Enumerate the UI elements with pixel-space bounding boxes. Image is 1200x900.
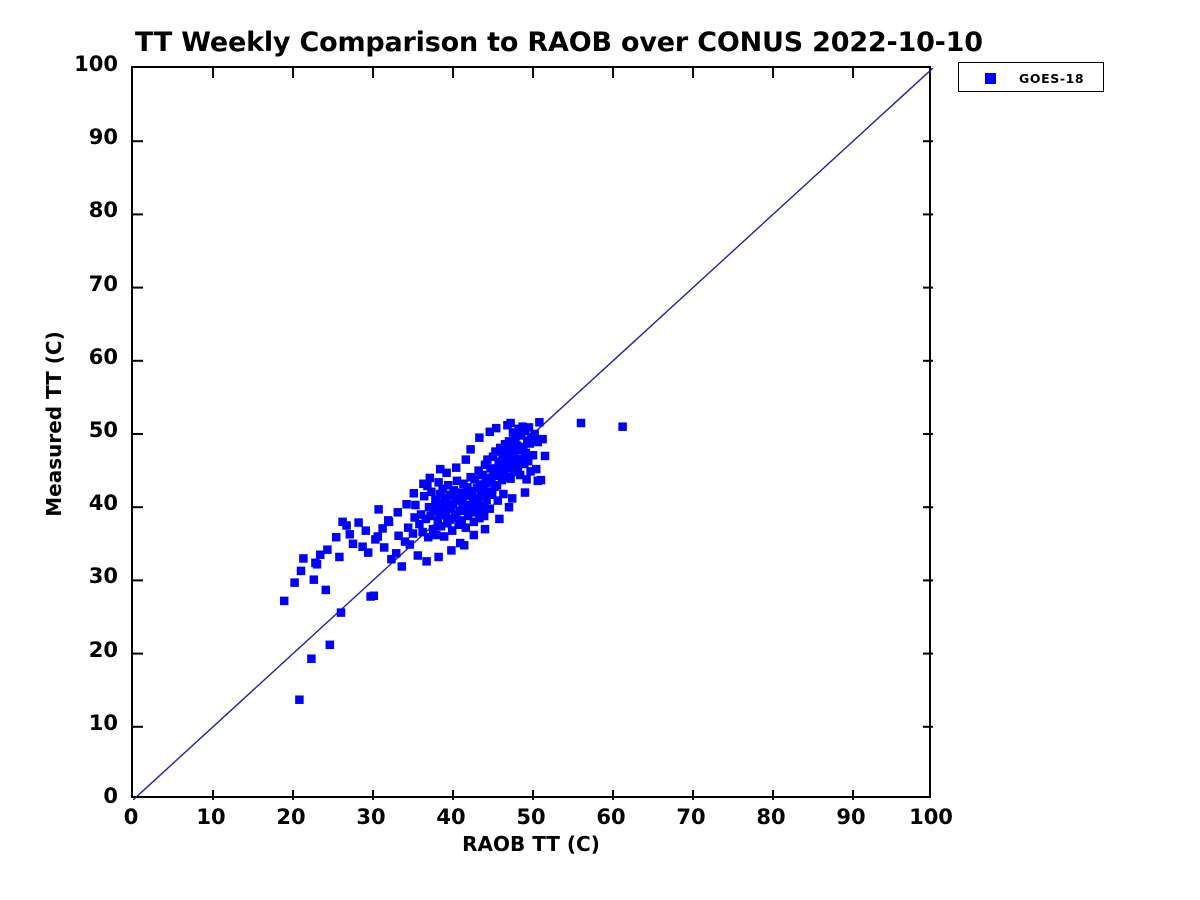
- data-point: [434, 553, 443, 562]
- data-point: [378, 524, 387, 533]
- data-point: [529, 451, 538, 460]
- data-point: [362, 526, 371, 535]
- x-tick-label: 50: [496, 805, 566, 829]
- data-point: [492, 424, 501, 433]
- data-point: [409, 529, 418, 538]
- data-point: [440, 532, 449, 541]
- data-point-group: [280, 418, 627, 704]
- plot-area: [131, 66, 931, 798]
- x-tick-label: 20: [256, 805, 326, 829]
- data-point: [310, 575, 319, 584]
- data-point: [326, 641, 335, 650]
- data-point: [535, 418, 544, 427]
- x-tick-label: 60: [576, 805, 646, 829]
- x-tick-label: 0: [96, 805, 166, 829]
- data-point: [410, 489, 419, 498]
- data-point: [506, 419, 514, 428]
- data-point: [462, 523, 471, 532]
- data-point: [534, 477, 543, 486]
- y-tick-label: 100: [48, 52, 118, 76]
- data-point: [427, 488, 436, 497]
- data-point: [398, 562, 407, 571]
- data-point: [432, 531, 441, 540]
- data-point: [311, 559, 320, 568]
- data-point: [307, 654, 316, 663]
- data-point: [577, 419, 586, 428]
- data-point: [447, 546, 456, 555]
- data-point: [299, 554, 308, 563]
- scatter-plot-svg: [133, 68, 933, 800]
- data-point: [411, 501, 420, 510]
- data-point: [499, 490, 508, 499]
- data-point: [380, 543, 389, 552]
- x-tick-label: 100: [896, 805, 966, 829]
- data-point: [541, 452, 550, 461]
- data-point: [394, 508, 403, 516]
- x-tick-label: 80: [736, 805, 806, 829]
- data-point: [370, 592, 379, 601]
- data-point: [530, 430, 539, 439]
- data-point: [481, 525, 490, 534]
- data-point: [495, 515, 504, 524]
- data-point: [349, 540, 358, 549]
- data-point: [342, 521, 351, 530]
- data-point: [470, 531, 479, 540]
- data-point: [460, 541, 469, 550]
- data-point: [402, 500, 411, 509]
- y-axis-title: Measured TT (C): [42, 324, 66, 524]
- data-point: [419, 480, 428, 489]
- data-point: [486, 504, 495, 513]
- chart-canvas: TT Weekly Comparison to RAOB over CONUS …: [0, 0, 1200, 900]
- y-tick-label: 70: [48, 272, 118, 296]
- data-point: [295, 695, 304, 704]
- y-tick-label: 30: [48, 564, 118, 588]
- data-point: [452, 463, 461, 472]
- y-tick-label: 0: [48, 784, 118, 808]
- data-point: [422, 557, 431, 566]
- y-tick-label: 20: [48, 638, 118, 662]
- data-point: [466, 445, 475, 454]
- chart-legend[interactable]: GOES-18: [958, 62, 1104, 92]
- data-point: [297, 567, 306, 576]
- data-point: [332, 533, 341, 542]
- data-point: [374, 505, 383, 514]
- data-point: [522, 475, 531, 484]
- data-point: [335, 553, 344, 562]
- y-tick-label: 90: [48, 125, 118, 149]
- data-point: [354, 518, 363, 527]
- y-tick-label: 10: [48, 711, 118, 735]
- data-point: [424, 533, 433, 542]
- square-marker-icon: [985, 73, 996, 84]
- data-point: [436, 465, 445, 474]
- x-axis-title: RAOB TT (C): [131, 832, 931, 856]
- data-point: [505, 503, 514, 512]
- x-tick-label: 40: [416, 805, 486, 829]
- data-point: [406, 540, 415, 549]
- data-point: [337, 608, 346, 617]
- x-tick-label: 70: [656, 805, 726, 829]
- x-tick-label: 90: [816, 805, 886, 829]
- legend-entry-label: GOES-18: [1019, 71, 1084, 86]
- data-point: [346, 530, 355, 539]
- data-point: [538, 435, 547, 444]
- y-tick-label: 80: [48, 198, 118, 222]
- data-point: [316, 551, 325, 560]
- data-point: [521, 488, 530, 497]
- x-tick-label: 10: [176, 805, 246, 829]
- data-point: [290, 578, 299, 587]
- data-point: [532, 465, 541, 474]
- data-point: [280, 597, 289, 606]
- data-point: [364, 548, 373, 557]
- data-point: [322, 586, 331, 595]
- data-point: [374, 532, 383, 541]
- x-tick-label: 30: [336, 805, 406, 829]
- data-point: [392, 549, 401, 558]
- data-point: [475, 433, 484, 442]
- page-title: TT Weekly Comparison to RAOB over CONUS …: [135, 27, 935, 58]
- data-point: [462, 455, 471, 464]
- data-point: [508, 494, 517, 503]
- data-point: [618, 422, 627, 431]
- data-point: [480, 512, 489, 521]
- data-point: [414, 551, 423, 560]
